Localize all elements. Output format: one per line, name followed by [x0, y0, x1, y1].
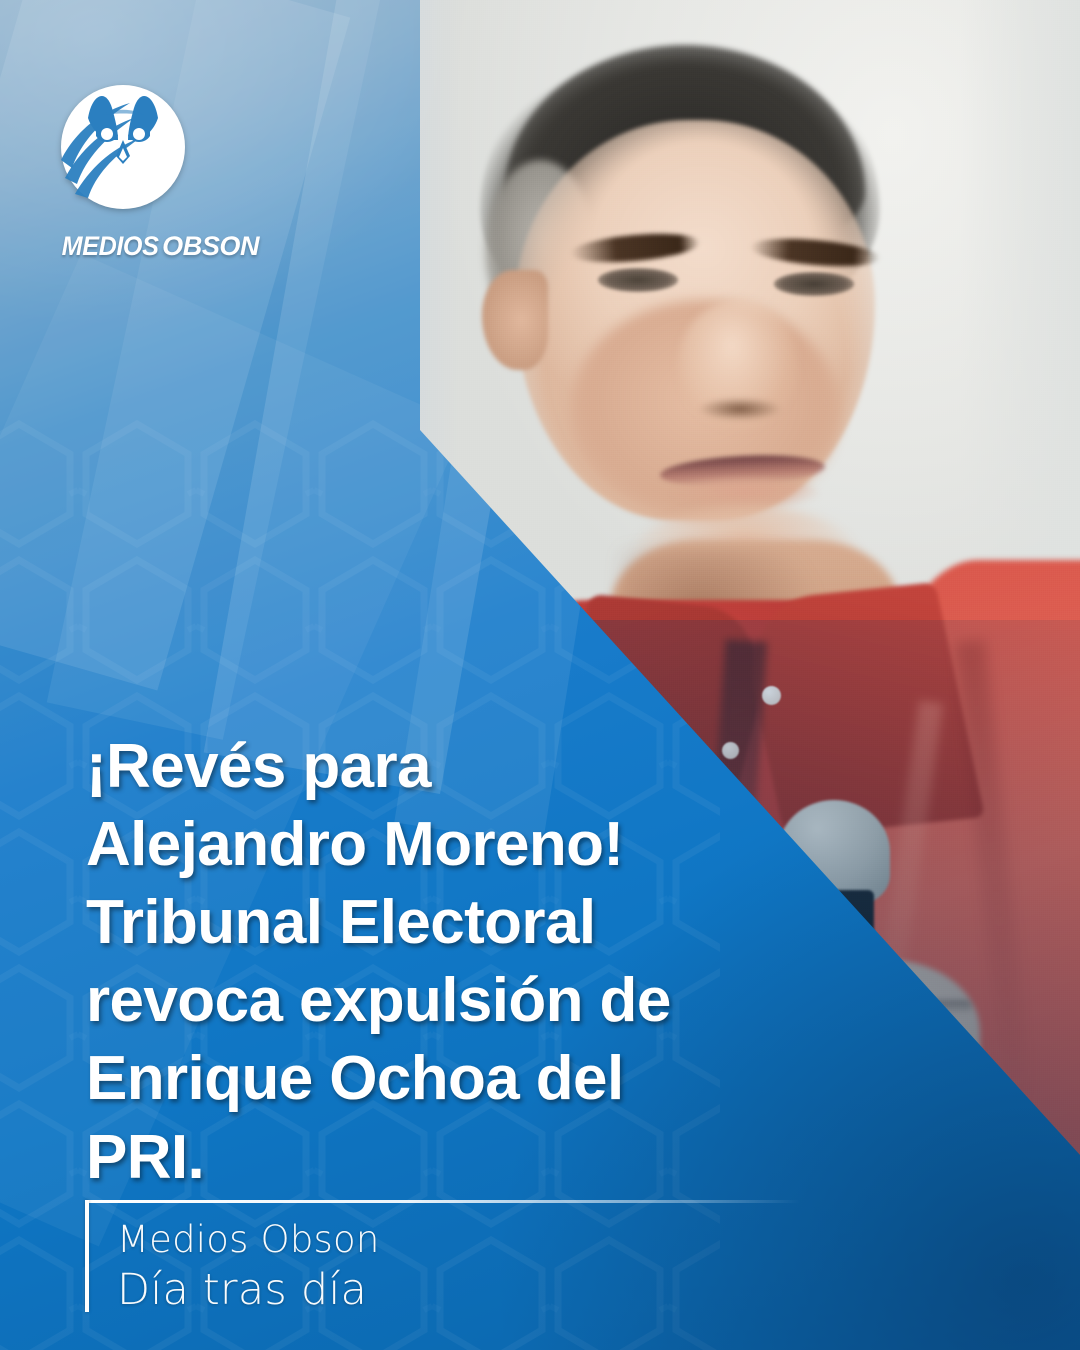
- brand-name-light: MEDIOS: [62, 231, 159, 262]
- footer-line-2: Día tras día: [117, 1263, 380, 1318]
- brand-logo[interactable]: MEDIOSOBSON: [58, 82, 308, 262]
- brand-name-bold: OBSON: [162, 231, 259, 261]
- headline-text: ¡Revés para Alejandro Moreno! Tribunal E…: [86, 728, 706, 1197]
- footer-block: Medios Obson Día tras día: [85, 1200, 1025, 1320]
- footer-vertical-rule: [85, 1200, 89, 1312]
- social-post-card: MEDIOSOBSON ¡Revés para Alejandro Moreno…: [0, 0, 1080, 1350]
- owl-logo-icon: [58, 82, 188, 212]
- footer-text: Medios Obson Día tras día: [117, 1216, 380, 1318]
- footer-horizontal-rule: [85, 1200, 800, 1203]
- brand-logo-text: MEDIOSOBSON: [58, 231, 308, 262]
- footer-line-1: Medios Obson: [117, 1216, 380, 1263]
